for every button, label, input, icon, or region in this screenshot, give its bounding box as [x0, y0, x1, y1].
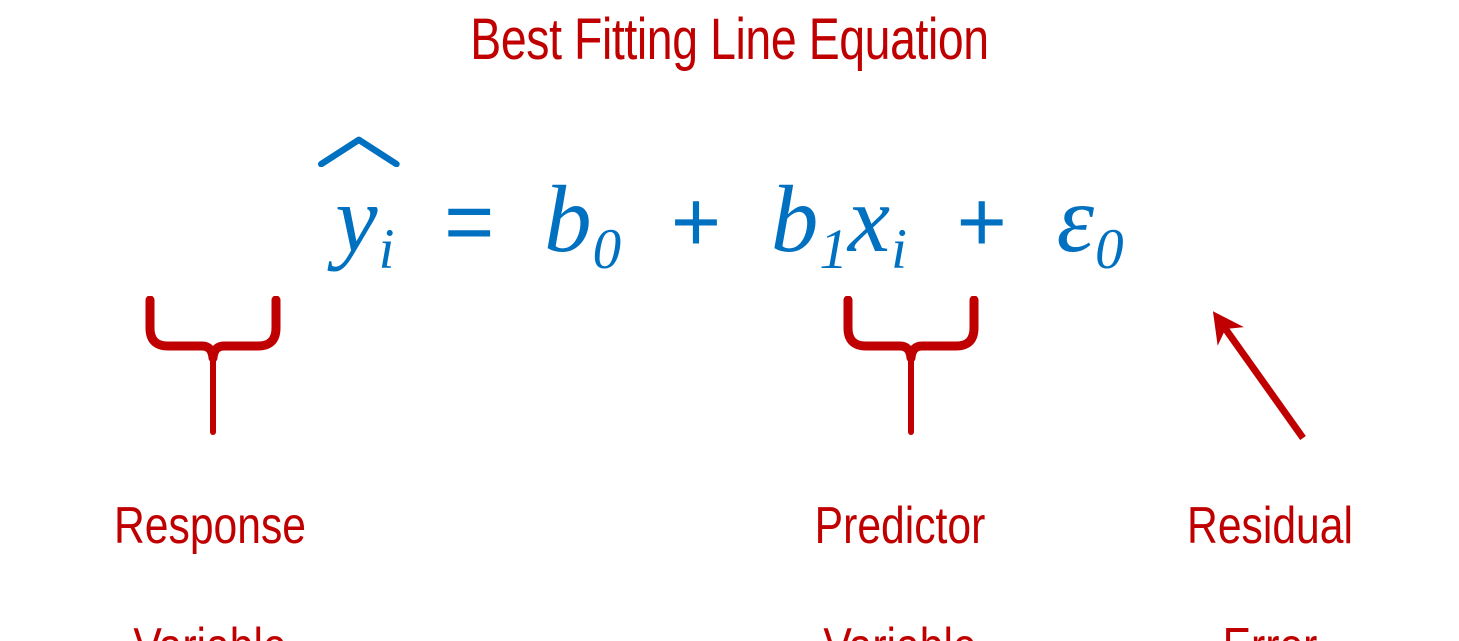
annotation-label-residual: Residual Error — [1122, 436, 1417, 641]
regression-equation: y i = b0 + b1 xi + ε0 — [0, 144, 1459, 294]
page-title: Best Fitting Line Equation — [146, 10, 1313, 71]
predictor-variable-symbol: x — [848, 166, 890, 272]
annotation-residual-line1: Residual — [1122, 496, 1417, 556]
slope-subscript: 1 — [819, 175, 848, 325]
intercept-symbol: b — [544, 166, 592, 272]
response-variable-symbol: y — [335, 144, 377, 294]
equation-term-residual: ε0 — [1057, 144, 1124, 325]
equation-term-response: y i — [335, 144, 394, 325]
equation-term-predictor: xi — [848, 144, 907, 325]
annotation-label-response: Response Variable — [62, 436, 357, 641]
residual-subscript: 0 — [1095, 175, 1124, 325]
plus-operator-1: + — [645, 147, 747, 297]
predictor-subscript: i — [891, 175, 907, 325]
annotation-label-predictor: Predictor Variable — [752, 436, 1047, 641]
plus-operator-2: + — [931, 147, 1033, 297]
residual-epsilon-symbol: ε — [1057, 166, 1094, 272]
arrow-residual-icon — [1170, 295, 1330, 455]
slope-symbol: b — [771, 166, 819, 272]
annotation-response-line1: Response — [62, 496, 357, 556]
response-subscript: i — [379, 175, 395, 325]
annotation-response-line2: Variable — [62, 617, 357, 641]
annotation-residual-line2: Error — [1122, 617, 1417, 641]
equals-operator: = — [418, 147, 520, 297]
intercept-subscript: 0 — [593, 175, 622, 325]
underbrace-response-icon — [140, 296, 286, 436]
equation-term-intercept: b0 — [544, 144, 621, 325]
y-hat-group: y — [335, 144, 377, 294]
annotation-predictor-line2: Variable — [752, 617, 1047, 641]
equation-term-slope: b1 — [771, 144, 848, 325]
annotation-predictor-line1: Predictor — [752, 496, 1047, 556]
slide-canvas: Best Fitting Line Equation y i = b0 + b1… — [0, 0, 1459, 641]
